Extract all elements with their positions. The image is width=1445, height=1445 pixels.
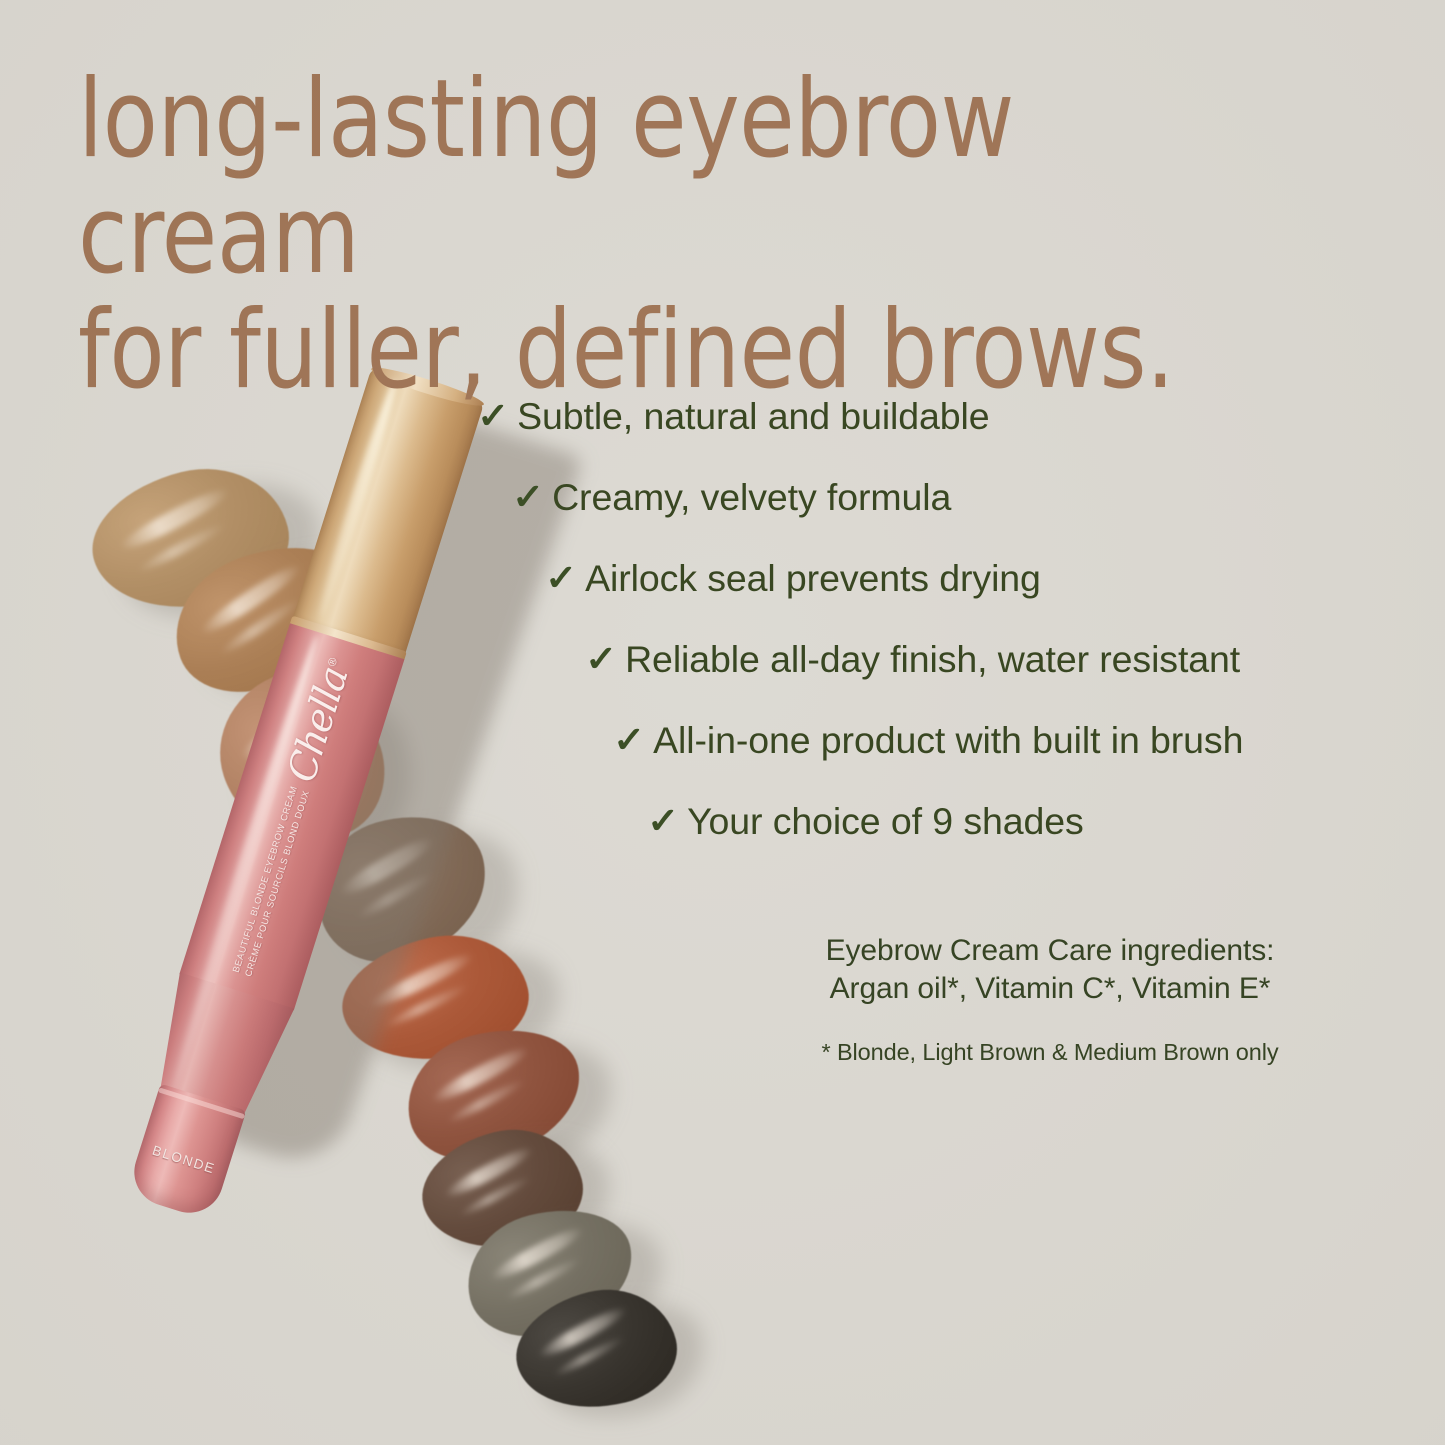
- benefit-label: Airlock seal prevents drying: [585, 560, 1041, 598]
- checkmark-icon: ✓: [613, 722, 645, 758]
- benefit-label: Creamy, velvety formula: [552, 479, 951, 517]
- benefit-item: ✓Your choice of 9 shades: [0, 803, 1445, 865]
- checkmark-icon: ✓: [512, 479, 544, 515]
- benefit-item: ✓All-in-one product with built in brush: [0, 722, 1445, 784]
- benefit-item: ✓Airlock seal prevents drying: [0, 560, 1445, 622]
- ingredients-line-1: Eyebrow Cream Care ingredients:: [700, 932, 1400, 970]
- benefits-list: ✓Subtle, natural and buildable✓Creamy, v…: [0, 398, 1445, 865]
- ingredients-block: Eyebrow Cream Care ingredients: Argan oi…: [700, 932, 1400, 1066]
- checkmark-icon: ✓: [647, 803, 679, 839]
- benefit-label: Your choice of 9 shades: [687, 803, 1084, 841]
- headline-line-2: for fuller, defined brows.: [78, 293, 1315, 409]
- checkmark-icon: ✓: [585, 641, 617, 677]
- marketing-image: BEAUTIFUL BLONDE EYEBROW CREAM CRÈME POU…: [0, 0, 1445, 1445]
- headline-line-1: long-lasting eyebrow cream: [78, 57, 1014, 298]
- ingredients-line-2: Argan oil*, Vitamin C*, Vitamin E*: [700, 970, 1400, 1008]
- page-title: long-lasting eyebrow cream for fuller, d…: [78, 62, 1315, 409]
- ingredients-footnote: * Blonde, Light Brown & Medium Brown onl…: [700, 1039, 1400, 1066]
- checkmark-icon: ✓: [477, 398, 509, 434]
- benefit-label: All-in-one product with built in brush: [653, 722, 1243, 760]
- benefit-item: ✓Creamy, velvety formula: [0, 479, 1445, 541]
- benefit-item: ✓Subtle, natural and buildable: [0, 398, 1445, 460]
- benefit-label: Subtle, natural and buildable: [517, 398, 989, 436]
- checkmark-icon: ✓: [545, 560, 577, 596]
- benefit-label: Reliable all-day finish, water resistant: [625, 641, 1240, 679]
- benefit-item: ✓Reliable all-day finish, water resistan…: [0, 641, 1445, 703]
